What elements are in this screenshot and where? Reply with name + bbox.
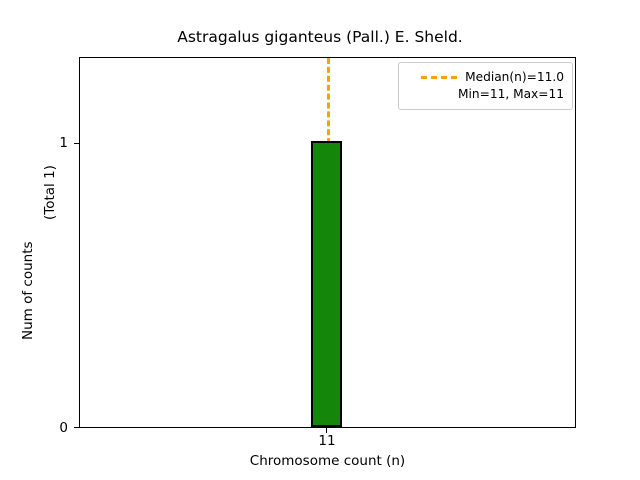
bar-11	[311, 141, 342, 427]
x-tick-label-11: 11	[302, 434, 352, 448]
chart-figure: Astragalus giganteus (Pall.) E. Sheld. 0…	[0, 0, 640, 480]
legend-label-minmax: Min=11, Max=11	[458, 86, 564, 103]
legend-item-minmax: Min=11, Max=11	[406, 86, 564, 103]
x-axis-title: Chromosome count (n)	[79, 453, 576, 469]
y-tick-mark-0-outer	[74, 427, 79, 428]
plot-area	[79, 57, 576, 428]
x-tick-mark-11-outer	[326, 428, 327, 433]
legend-label-median: Median(n)=11.0	[465, 69, 564, 86]
dashed-line-icon	[421, 76, 457, 79]
y-tick-label-1: 1	[38, 136, 68, 150]
y-axis-title: Num of counts	[20, 241, 36, 340]
y-tick-label-0: 0	[38, 421, 68, 435]
legend: Median(n)=11.0 Min=11, Max=11	[398, 62, 573, 110]
legend-item-median: Median(n)=11.0	[406, 69, 564, 86]
y-tick-mark-1-outer	[74, 143, 79, 144]
chart-title: Astragalus giganteus (Pall.) E. Sheld.	[0, 28, 640, 46]
y-axis-title-total: (Total 1)	[42, 165, 58, 220]
